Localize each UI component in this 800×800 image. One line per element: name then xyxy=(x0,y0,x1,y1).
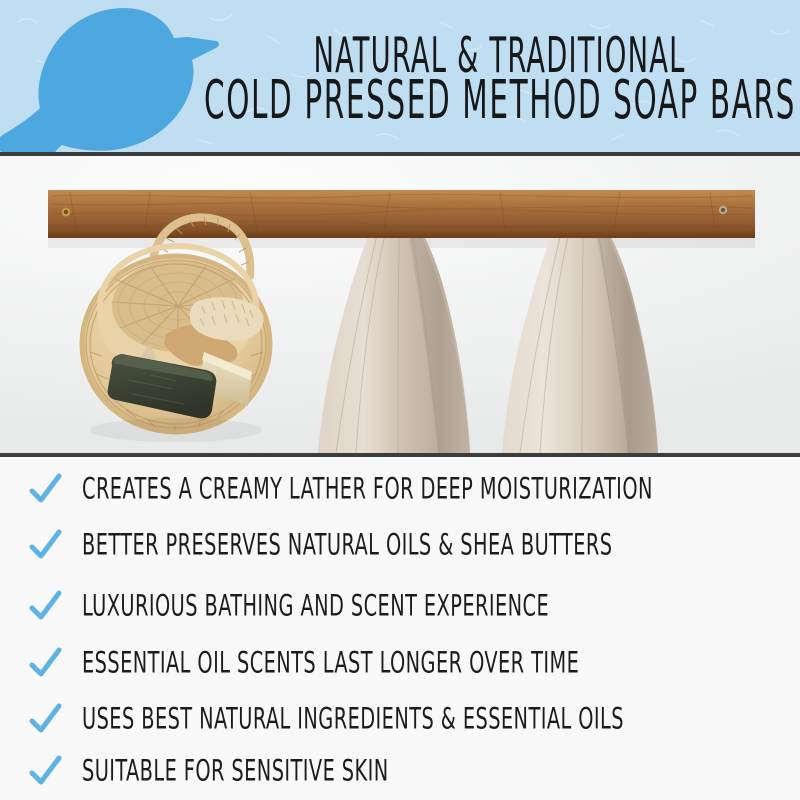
list-item-label: Better Preserves Natural Oils & Shea But… xyxy=(82,530,612,561)
list-item: Creates a Creamy Lather for Deep Moistur… xyxy=(28,467,746,511)
check-icon xyxy=(28,528,62,562)
feature-list: Creates a Creamy Lather for Deep Moistur… xyxy=(0,457,800,800)
header-banner: Natural & Traditional Cold Pressed Metho… xyxy=(0,0,800,152)
check-icon xyxy=(28,646,62,680)
list-item-label: Essential Oil Scents Last Longer Over Ti… xyxy=(82,648,579,679)
list-item: Uses Best Natural Ingredients & Essentia… xyxy=(28,697,712,741)
bird-silhouette-icon xyxy=(0,4,222,152)
check-icon xyxy=(28,472,62,506)
list-item-label: Uses Best Natural Ingredients & Essentia… xyxy=(82,704,624,735)
list-item: Essential Oil Scents Last Longer Over Ti… xyxy=(28,641,660,685)
check-icon xyxy=(28,589,62,623)
photo-illustration xyxy=(0,156,800,453)
list-item: Luxurious Bathing and Scent Experience xyxy=(28,584,625,628)
list-item-label: Luxurious Bathing and Scent Experience xyxy=(82,591,549,622)
check-icon xyxy=(28,702,62,736)
list-item-label: Suitable for Sensitive Skin xyxy=(82,756,389,787)
wooden-peg-rail xyxy=(48,190,755,238)
brass-screw xyxy=(62,208,71,217)
product-feature-poster: Natural & Traditional Cold Pressed Metho… xyxy=(0,0,800,800)
brass-screw xyxy=(719,206,727,214)
list-item-label: Creates a Creamy Lather for Deep Moistur… xyxy=(82,474,653,505)
poster-title: Natural & Traditional Cold Pressed Metho… xyxy=(205,8,795,148)
check-icon xyxy=(28,754,62,788)
title-line-2: Cold Pressed Method Soap Bars xyxy=(204,70,796,130)
list-item: Suitable for Sensitive Skin xyxy=(28,749,439,793)
product-photo xyxy=(0,156,800,453)
list-item: Better Preserves Natural Oils & Shea But… xyxy=(28,523,699,567)
